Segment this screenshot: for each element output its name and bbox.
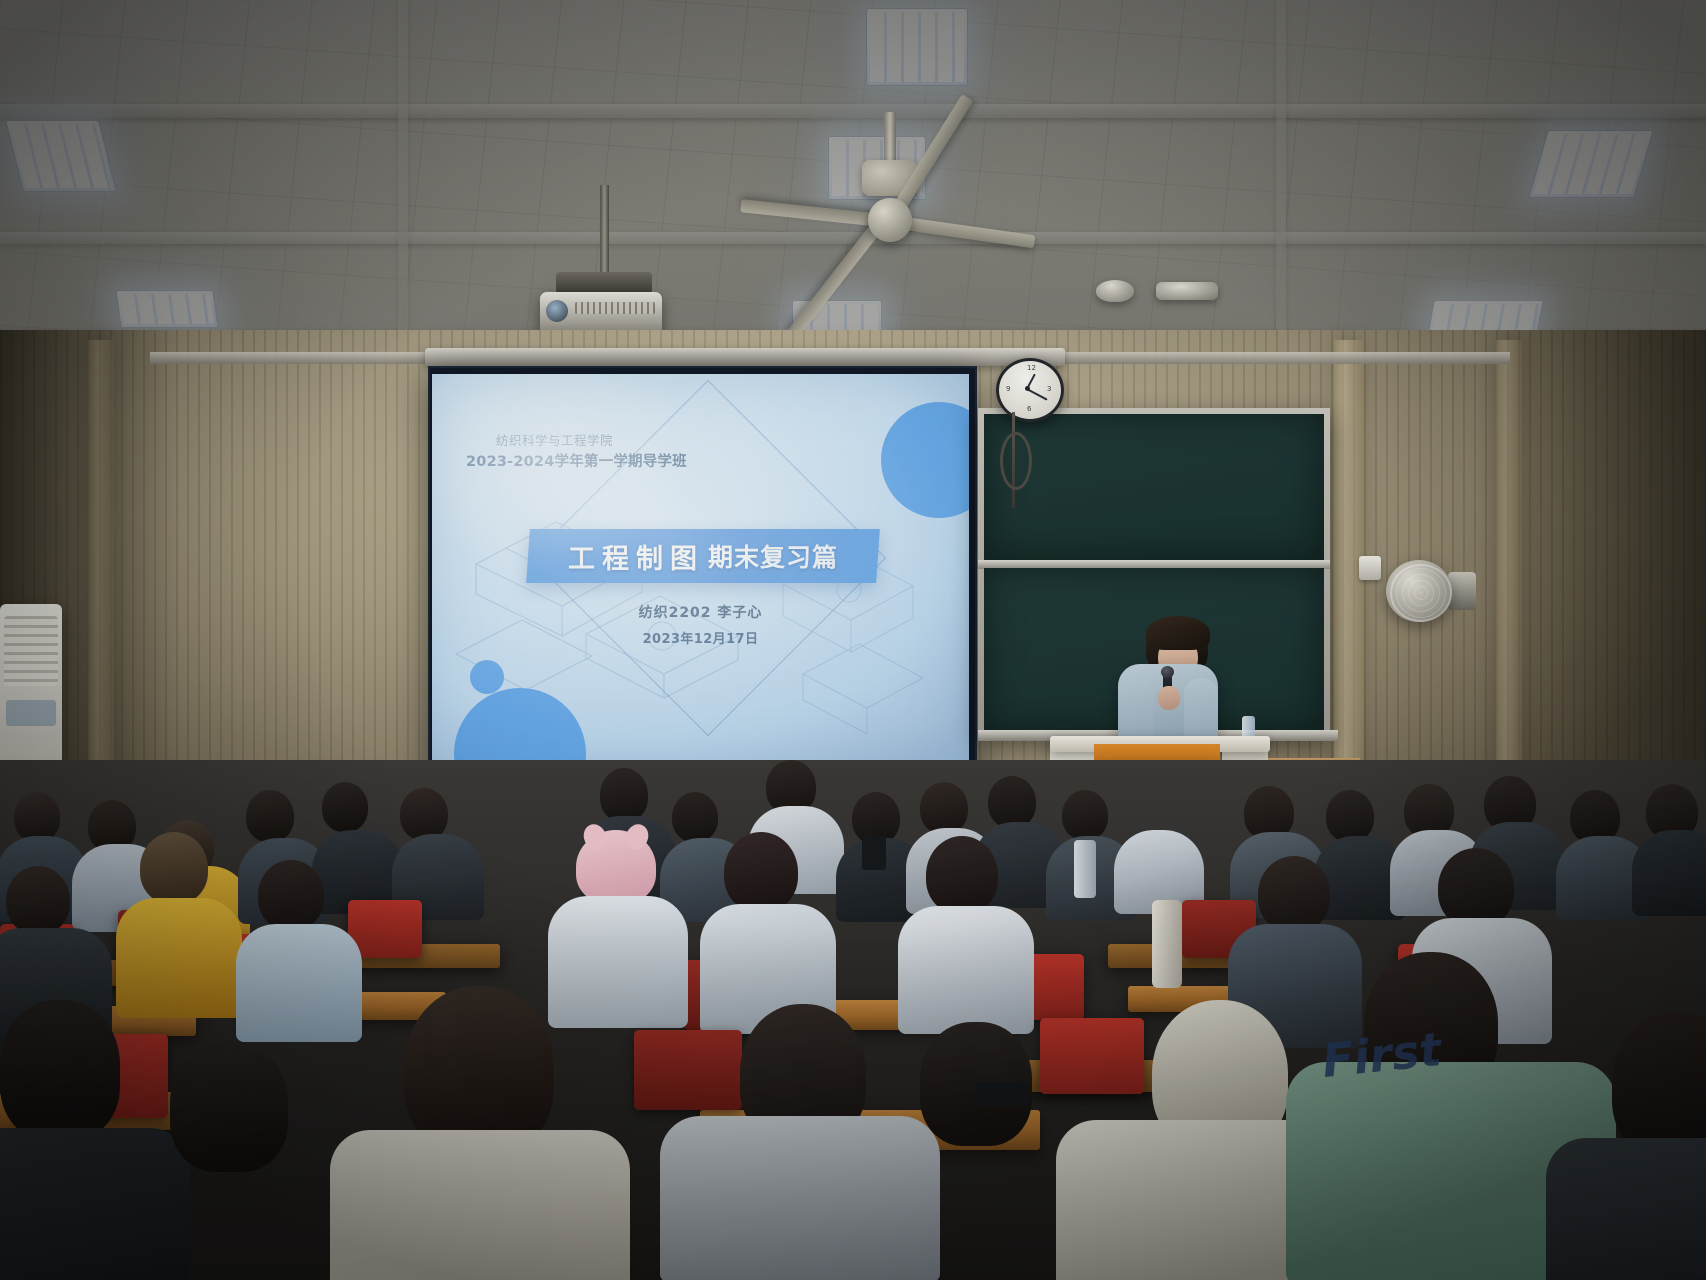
projector-lens: [546, 300, 568, 322]
slide-circle-decoration: [881, 402, 969, 518]
student-head: [258, 860, 324, 930]
student-head: [600, 768, 648, 822]
student-head: [140, 832, 208, 904]
phone: [862, 836, 886, 870]
student-torso-front: [1546, 1138, 1706, 1280]
student-head: [926, 836, 998, 914]
clock-numeral: 9: [1006, 385, 1010, 393]
student-head-front: [170, 1042, 288, 1172]
ceiling-speaker-dome: [1096, 280, 1134, 302]
blackboard-upper-panel: [984, 414, 1324, 562]
thermos: [1152, 900, 1182, 988]
clock-numeral: 12: [1027, 364, 1036, 372]
ceiling-fan-hub: [868, 198, 912, 242]
student-torso: [116, 898, 242, 1018]
student-head: [672, 792, 718, 842]
student-torso: [236, 924, 362, 1042]
student-torso: [1632, 830, 1706, 916]
classroom-photo: 纺织科学与工程学院 2023-2024学年第一学期导学班 工程制图 期末复习篇 …: [0, 0, 1706, 1280]
chair-back: [634, 1030, 742, 1110]
air-conditioner-panel[interactable]: [6, 700, 56, 726]
clock-minute-hand: [1027, 388, 1048, 400]
air-conditioner-vent: [4, 616, 58, 686]
slide-date: 2023年12月17日: [432, 628, 969, 647]
clock-center-pin: [1025, 386, 1030, 391]
projection-screen-case: [425, 348, 1065, 366]
student-head: [322, 782, 368, 832]
clock-numeral: 6: [1027, 405, 1031, 413]
wall-fan-cage: [1390, 564, 1452, 622]
ceiling-speaker-bar: [1156, 282, 1218, 300]
student-head: [14, 792, 60, 842]
water-bottle: [1074, 840, 1096, 898]
wall-fan-bracket: [1448, 572, 1476, 610]
student-torso-front: [660, 1116, 940, 1280]
microphone-head: [1161, 666, 1174, 678]
student-head: [6, 866, 70, 934]
projector-hotspot: [432, 374, 692, 574]
student-head: [920, 782, 968, 834]
student-head: [246, 790, 294, 842]
chair-back: [1040, 1018, 1144, 1094]
phone: [976, 1082, 1028, 1106]
slide-circle-decoration: [470, 660, 504, 694]
wall-clock: 12 3 6 9: [996, 358, 1064, 422]
projector-mount-rod: [600, 185, 609, 277]
student-torso: [548, 896, 688, 1028]
student-head: [400, 788, 448, 840]
projection-screen: 纺织科学与工程学院 2023-2024学年第一学期导学班 工程制图 期末复习篇 …: [432, 374, 969, 768]
presenter-hair-front: [1146, 616, 1210, 650]
slide-author: 纺织2202 李子心: [432, 602, 969, 622]
student-torso-front: [0, 1128, 190, 1280]
projector-vent: [575, 302, 655, 314]
student-head: [988, 776, 1036, 828]
clock-numeral: 3: [1047, 385, 1051, 393]
student-torso-front: [330, 1130, 630, 1280]
hanging-cord-loop: [1000, 432, 1032, 490]
slide-title-sub: 期末复习篇: [708, 538, 838, 574]
student-head: [1258, 856, 1330, 932]
wall-switch[interactable]: [1359, 556, 1381, 580]
ceiling-fan-rod: [884, 112, 896, 164]
student-head: [1062, 790, 1108, 840]
wall-pillar: [1334, 340, 1364, 770]
student-head: [1438, 848, 1514, 928]
student-torso: [898, 906, 1034, 1034]
student-head: [724, 832, 798, 912]
projector-bracket: [556, 272, 652, 294]
student-head-front: [0, 1000, 120, 1140]
student-head: [1128, 784, 1174, 834]
presenter-hand: [1158, 686, 1180, 710]
student-head: [1326, 790, 1374, 842]
